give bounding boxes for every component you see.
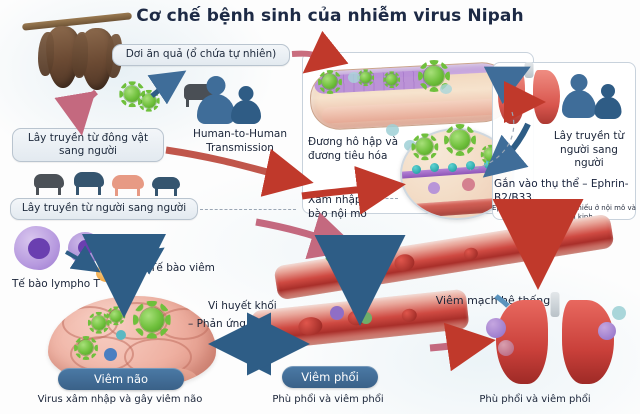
dashed-connector [376,198,398,199]
cow-leg [186,97,189,107]
cell-nucleus [78,240,93,255]
monocyte-icon [598,322,616,340]
badge-text: Viêm phổi [301,370,359,384]
monocyte-icon [486,318,506,338]
virus-particle-icon [322,74,337,89]
immune-cell-icon [360,312,372,324]
people-silhouette-icon [594,84,622,118]
virus-particle-icon [78,340,93,355]
cell-nucleus [28,238,50,259]
pig-leg [155,188,158,196]
immune-cell-icon [386,124,399,136]
caption-lung-edema: Phù phổi và viêm phổi [440,394,630,405]
label-text: Lây truyền từ đông vật sang người [19,132,157,158]
tree-branch [22,12,132,30]
immune-cell-icon [116,330,126,340]
red-arrow-icon [430,342,482,348]
people-silhouette-icon [230,86,262,124]
label-human-to-human-vn: Lây truyền từ người sang người [10,198,198,220]
label-ephrin-receptor: Gắn vào thụ thể – Ephrin-B2/B33 [494,178,632,205]
badge-text: Viêm não [94,372,148,386]
label-t-lymphocyte: Tế bào lympho T [12,278,122,291]
immune-cell-icon [104,348,117,361]
immune-cell-icon [498,340,514,356]
badge-pneumonia: Viêm phổi [282,366,378,388]
virus-particle-icon [142,94,156,108]
virus-particle-icon [416,138,433,155]
cow-leg [36,186,39,195]
monocyte-icon [428,182,440,194]
cow-leg [76,186,79,195]
immune-cell-icon [612,306,626,320]
monocyte-icon [372,244,385,257]
cow-leg [98,186,101,195]
cow-leg [58,186,61,195]
label-inflammatory-cell: Tế bào viêm [150,262,246,275]
bat-icon [80,28,114,90]
pig-leg [174,188,177,196]
virus-particle-icon [140,308,164,332]
caption-encephalitis: Virus xâm nhập và gây viêm não [10,394,230,405]
page-title: Cơ chế bệnh sinh của nhiễm virus Nipah [120,6,540,26]
monocyte-icon [330,306,344,320]
pink-arrow-icon [80,92,96,124]
virus-particle-icon [450,130,470,150]
caption-pneumonia: Phù phổi và viêm phổi [248,394,408,405]
inflammatory-cell-icon [126,238,152,262]
pig-leg [137,188,140,196]
virus-particle-icon [424,66,444,86]
badge-encephalitis: Viêm não [58,368,184,390]
virus-particle-icon [92,316,106,330]
label-human-to-human-transmission: Human-to-Human Transmission [178,128,302,155]
mucosa-tube-illustration [309,61,514,131]
label-text: Lây truyền từ người sang người [22,202,186,215]
immune-cell-icon [348,72,360,83]
label-bat-reservoir: Dơi ăn quả (ổ chứa tự nhiên) [112,44,290,66]
people-silhouette-icon [562,74,596,118]
infographic-canvas: Cơ chế bệnh sinh của nhiễm virus Nipah D… [0,0,640,414]
virus-particle-icon [328,246,342,260]
virus-particle-icon [360,72,371,83]
lungs-icon [496,300,614,384]
dashed-connector [200,209,296,210]
label-endothelial-invasion: Xâm nhập tế bào nội mô [308,194,378,221]
label-respiratory-digestive-route: Đương hô hập và đương tiêu hóa [308,136,412,163]
immune-cell-icon [440,84,452,94]
red-blood-cell-icon [462,178,475,191]
label-person-to-person: Lây truyền từ người sang người [546,130,632,171]
virus-particle-icon [110,310,122,322]
label-animal-to-human: Lây truyền từ đông vật sang người [12,128,164,162]
pig-leg [115,188,118,196]
label-ephrin-note: Ephrin-B2/B3 biểu hiện thiếu ở nội mô và… [492,204,636,222]
pig-silhouette-icon [112,175,144,189]
virus-particle-icon [386,74,397,85]
lungs-icon [498,70,560,124]
cow-silhouette-icon [74,172,104,187]
label-text: Dơi ăn quả (ổ chứa tự nhiên) [126,48,277,61]
